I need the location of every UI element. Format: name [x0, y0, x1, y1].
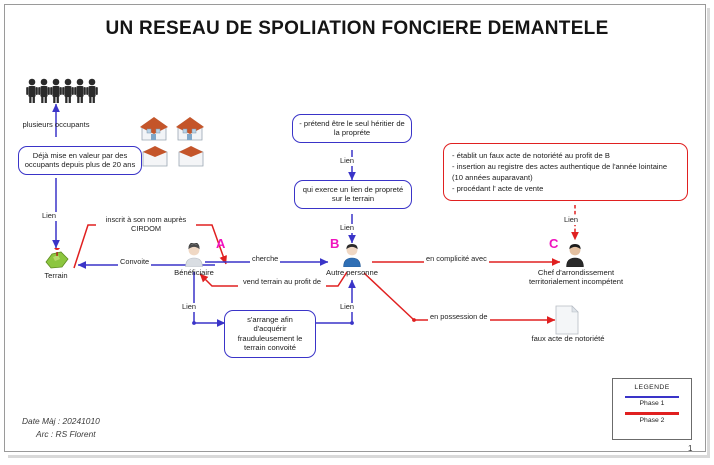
edge-label-lien-occupants: Lien — [40, 212, 58, 221]
legend-swatch-phase-2 — [625, 412, 679, 414]
page-shadow-bottom — [8, 455, 710, 458]
date-maj: Date Màj : 20241010 — [22, 415, 100, 428]
author: Arc : RS Florent — [36, 428, 100, 441]
heritier-box: - prétend être le seul héritier de la pr… — [292, 114, 412, 143]
legend-label-phase-1: Phase 1 — [613, 400, 691, 407]
lien-propriete-box: qui exerce un lien de propreté sur le te… — [294, 180, 412, 209]
edge-label-lien-autre: Lien — [338, 303, 356, 312]
beneficiaire-caption: Bénéficiaire — [160, 268, 228, 277]
edge-label-vend-terrain: vend terrain au profit de — [238, 278, 326, 287]
edge-label-lien-b-top: Lien — [338, 224, 356, 233]
chef-caption-line-2: territorialement incompétent — [513, 277, 639, 286]
edge-label-lien-beneficiaire: Lien — [180, 303, 198, 312]
tag-b: B — [330, 236, 339, 251]
arrange-box: s'arrange afin d'acquérir frauduleusemen… — [224, 310, 316, 358]
document-meta: Date Màj : 20241010 Arc : RS Florent — [22, 415, 100, 440]
faux-acte-box: - établit un faux acte de notoriété au p… — [443, 143, 688, 201]
legend-swatch-phase-1 — [625, 396, 679, 398]
edge-label-convoite: Convoite — [118, 258, 151, 267]
diagram-page: UN RESEAU DE SPOLIATION FONCIERE DEMANTE… — [0, 0, 714, 465]
faux-acte-line-2: - insertion au registre des actes authen… — [452, 161, 679, 172]
legend-title: LEGENDE — [613, 384, 691, 391]
houses-icon — [138, 112, 212, 179]
faux-acte-line-3: (10 années auparavant) — [452, 172, 679, 183]
legend-label-phase-2: Phase 2 — [613, 417, 691, 424]
page-title: UN RESEAU DE SPOLIATION FONCIERE DEMANTE… — [0, 18, 714, 40]
tag-a: A — [216, 236, 225, 251]
edge-label-complicite: en complicité avec — [424, 255, 489, 264]
autre-personne-caption: Autre personne — [316, 268, 388, 277]
legend: LEGENDE Phase 1 Phase 2 — [612, 378, 692, 440]
chef-caption-line-1: Chef d'arrondissement — [518, 268, 634, 277]
people-group-icon — [26, 78, 100, 109]
edge-label-possession: en possession de — [428, 313, 490, 322]
tag-c: C — [549, 236, 558, 251]
edge-label-inscrit: inscrit à son nom auprès CIRDOM — [96, 216, 196, 234]
edge-label-lien-heritier: Lien — [338, 157, 356, 166]
page-shadow-right — [707, 8, 710, 458]
terrain-caption: Terrain — [26, 271, 86, 280]
faux-acte-line-4: - procédant l' acte de vente — [452, 183, 679, 194]
page-number: 1 — [688, 444, 692, 453]
faux-acte-caption: faux acte de notoriété — [524, 334, 612, 343]
faux-acte-line-1: - établit un faux acte de notoriété au p… — [452, 150, 679, 161]
edge-label-lien-chef: Lien — [562, 216, 580, 225]
occupants-caption: plusieurs occupants — [6, 120, 106, 129]
occupants-box: Déjà mise en valeur par des occupants de… — [18, 146, 142, 175]
edge-label-cherche: cherche — [250, 255, 280, 264]
